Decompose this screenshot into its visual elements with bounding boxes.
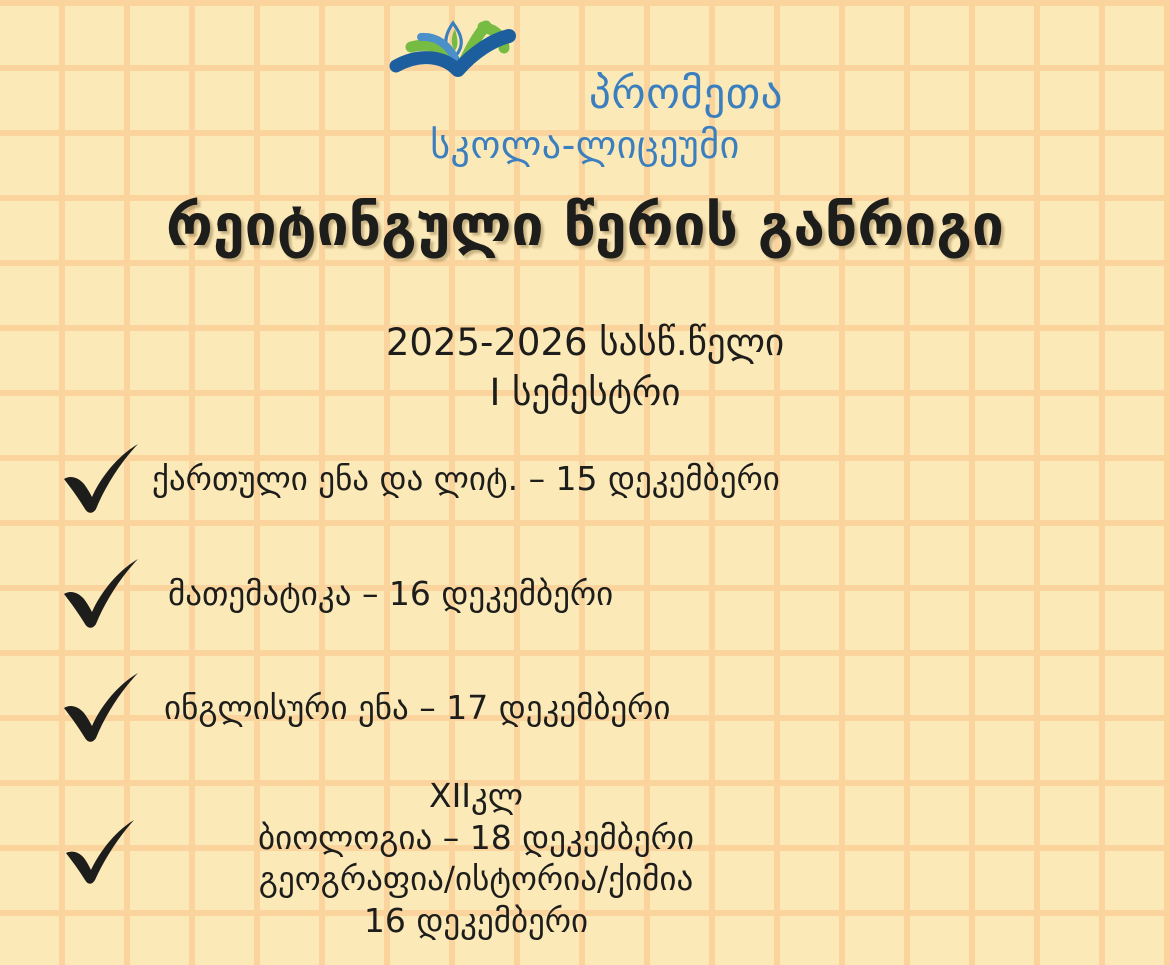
- check-mark-icon: [60, 672, 144, 744]
- logo-name-line1: პრომეთა: [589, 73, 783, 122]
- list-item-label: ინგლისური ენა – 17 დეკემბერი: [164, 687, 671, 729]
- logo-name-line2: სკოლა-ლიცეუმი: [430, 126, 740, 164]
- list-item: მათემატიკა – 16 დეკემბერი: [60, 558, 613, 630]
- open-book-with-flame-logo-icon: [387, 18, 583, 122]
- semester-label: I სემესტრი: [0, 368, 1170, 418]
- academic-year-label: 2025-2026 სასწ.წელი: [386, 321, 784, 364]
- check-mark-icon: [60, 443, 144, 515]
- page-title: რეიტინგული წერის განრიგი: [0, 196, 1170, 258]
- list-item: XIIკლ ბიოლოგია – 18 დეკემბერი გეოგრაფია/…: [60, 775, 776, 941]
- list-item-label: მათემატიკა – 16 დეკემბერი: [168, 573, 613, 615]
- list-item-label: ქართული ენა და ლიტ. – 15 დეკემბერი: [152, 458, 780, 500]
- announcement-poster: პრომეთა სკოლა-ლიცეუმი რეიტინგული წერის გ…: [0, 0, 1170, 965]
- list-item: ინგლისური ენა – 17 დეკემბერი: [60, 672, 671, 744]
- check-mark-icon: [60, 815, 144, 887]
- check-mark-icon: [60, 558, 144, 630]
- list-item: ქართული ენა და ლიტ. – 15 დეკემბერი: [60, 443, 780, 515]
- subtitle-block: 2025-2026 სასწ.წელი I სემესტრი: [0, 318, 1170, 418]
- school-logo: პრომეთა სკოლა-ლიცეუმი: [0, 18, 1170, 164]
- list-item-label: XIIკლ ბიოლოგია – 18 დეკემბერი გეოგრაფია/…: [176, 775, 776, 941]
